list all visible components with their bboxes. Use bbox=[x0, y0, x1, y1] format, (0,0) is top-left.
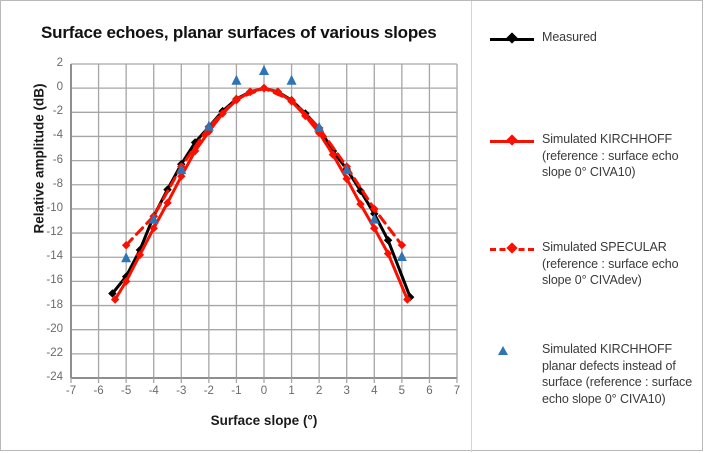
legend-key-planar-defects bbox=[486, 343, 542, 359]
legend-label-planar-defects: Simulated KIRCHHOFF planar defects inste… bbox=[542, 341, 701, 407]
legend-item-specular[interactable]: Simulated SPECULAR (reference : surface … bbox=[486, 239, 701, 289]
plot-area-wrapper: Relative amplitude (dB) Surface slope (°… bbox=[1, 1, 471, 452]
legend-item-kirchhoff[interactable]: Simulated KIRCHHOFF (reference : surface… bbox=[486, 131, 701, 181]
legend-key-specular bbox=[486, 241, 542, 257]
legend-label-measured: Measured bbox=[542, 29, 597, 46]
plot-canvas bbox=[1, 1, 471, 452]
diamond-marker-icon bbox=[506, 32, 517, 43]
legend-label-kirchhoff: Simulated KIRCHHOFF (reference : surface… bbox=[542, 131, 701, 181]
diamond-marker-icon bbox=[506, 134, 517, 145]
legend-item-measured[interactable]: Measured bbox=[486, 29, 701, 47]
triangle-marker-icon bbox=[498, 346, 508, 355]
diamond-marker-icon bbox=[506, 242, 517, 253]
legend-key-measured bbox=[486, 31, 542, 47]
legend-key-kirchhoff bbox=[486, 133, 542, 149]
chart-legend: Measured Simulated KIRCHHOFF (reference … bbox=[471, 1, 704, 452]
legend-label-specular: Simulated SPECULAR (reference : surface … bbox=[542, 239, 701, 289]
legend-item-planar-defects[interactable]: Simulated KIRCHHOFF planar defects inste… bbox=[486, 341, 701, 407]
chart-frame: Surface echoes, planar surfaces of vario… bbox=[0, 0, 703, 451]
